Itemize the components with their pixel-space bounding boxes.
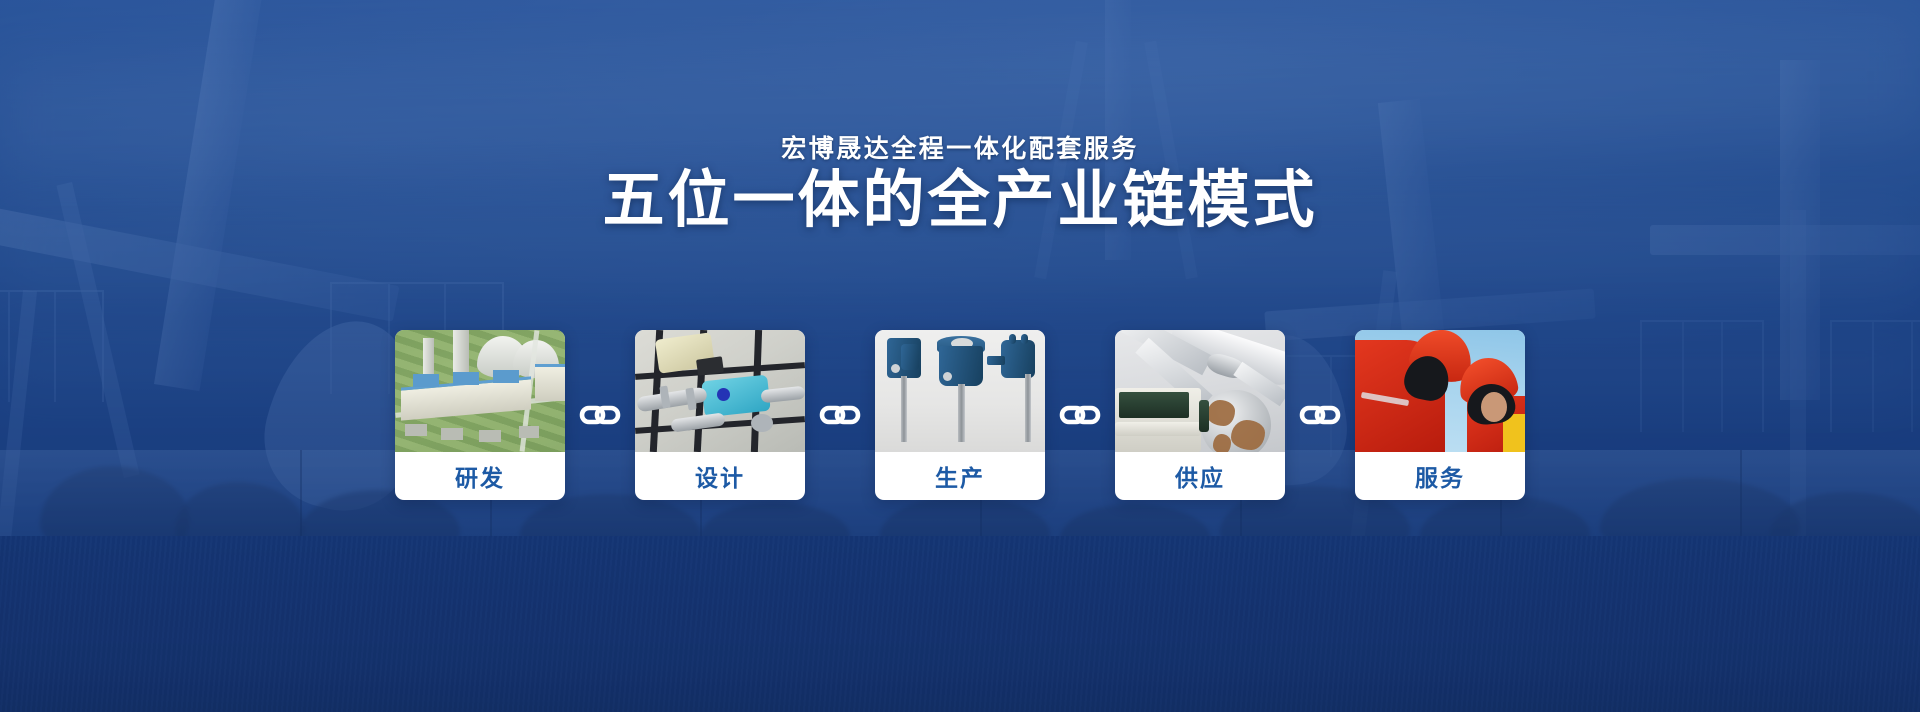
chain-card-label: 服务 xyxy=(1355,452,1525,500)
chain-card-research[interactable]: 研发 xyxy=(395,330,565,500)
chain-link-1 xyxy=(565,330,635,500)
chain-card-design[interactable]: 设计 xyxy=(635,330,805,500)
chain-card-supply[interactable]: 供应 xyxy=(1115,330,1285,500)
card-image-industrial-plant xyxy=(395,330,565,452)
chain-link-icon xyxy=(1058,402,1102,428)
chain-card-label: 供应 xyxy=(1115,452,1285,500)
chain-link-4 xyxy=(1285,330,1355,500)
banner-headline: 五位一体的全产业链模式 xyxy=(0,166,1920,235)
value-chain-row: 研发 xyxy=(0,330,1920,500)
chain-link-icon xyxy=(578,402,622,428)
chain-card-production[interactable]: 生产 xyxy=(875,330,1045,500)
chain-card-service[interactable]: 服务 xyxy=(1355,330,1525,500)
card-image-logistics xyxy=(1115,330,1285,452)
card-image-level-instruments xyxy=(875,330,1045,452)
card-image-cad-render xyxy=(635,330,805,452)
banner-content: 宏博晟达全程一体化配套服务 五位一体的全产业链模式 xyxy=(0,0,1920,712)
chain-card-label: 研发 xyxy=(395,452,565,500)
card-image-field-workers xyxy=(1355,330,1525,452)
chain-link-icon xyxy=(818,402,862,428)
promo-banner: 宏博晟达全程一体化配套服务 五位一体的全产业链模式 xyxy=(0,0,1920,712)
banner-subtitle: 宏博晟达全程一体化配套服务 xyxy=(0,129,1920,165)
chain-card-label: 设计 xyxy=(635,452,805,500)
chain-link-2 xyxy=(805,330,875,500)
chain-link-icon xyxy=(1298,402,1342,428)
chain-link-3 xyxy=(1045,330,1115,500)
chain-card-label: 生产 xyxy=(875,452,1045,500)
